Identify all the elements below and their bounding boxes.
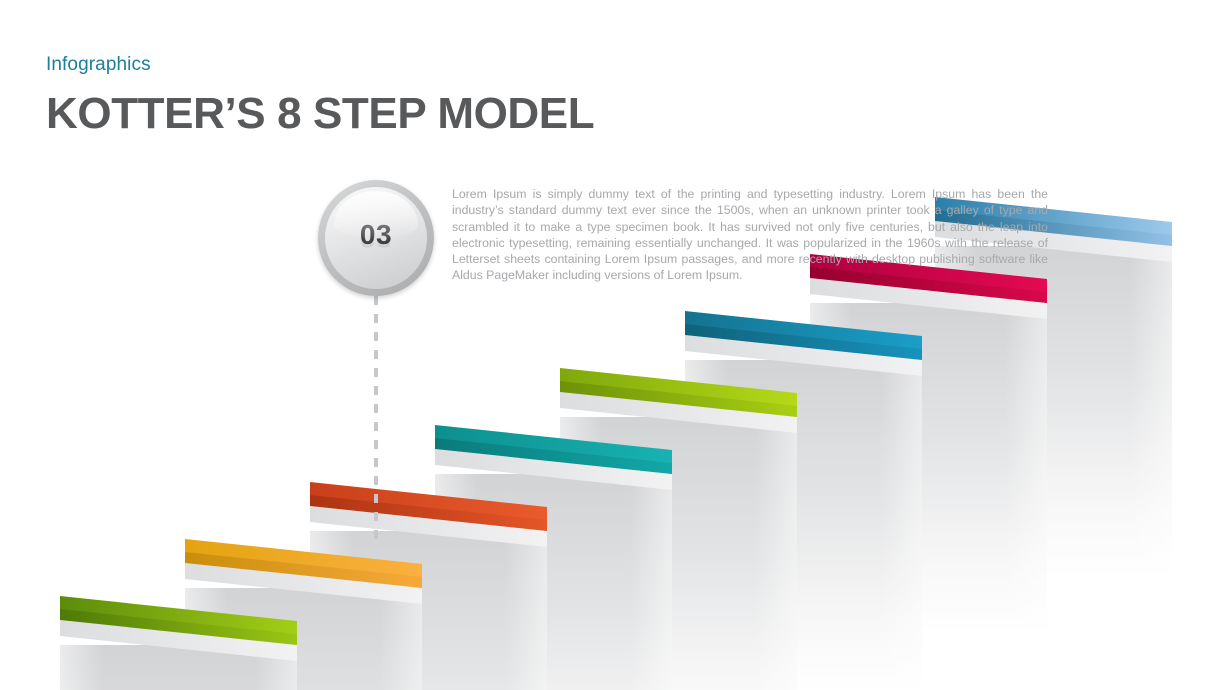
eyebrow-label: Infographics [46, 54, 846, 77]
step-1-shape [60, 607, 306, 690]
infographic-slide: Infographics KOTTER’S 8 STEP MODEL Lorem… [0, 0, 1227, 690]
badge-number-label: 03 [318, 221, 434, 249]
slide-header: Infographics KOTTER’S 8 STEP MODEL [46, 54, 846, 139]
step-number-badge[interactable]: 03 03 [318, 180, 434, 296]
description-paragraph: Lorem Ipsum is simply dummy text of the … [452, 186, 1048, 284]
page-title: KOTTER’S 8 STEP MODEL [46, 89, 846, 140]
staircase-step-1[interactable] [60, 607, 306, 690]
dashed-connector-line [374, 296, 378, 548]
